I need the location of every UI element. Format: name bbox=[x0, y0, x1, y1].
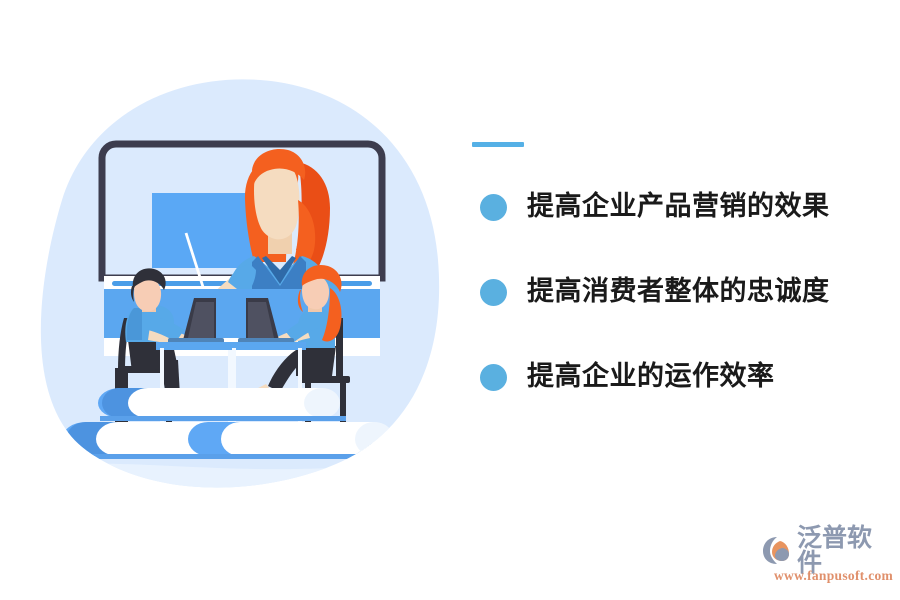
list-item: 提高企业产品营销的效果 bbox=[468, 178, 888, 236]
slide-root: 提高企业产品营销的效果 提高消费者整体的忠诚度 提高企业的运作效率 泛普软件 bbox=[0, 0, 900, 600]
list-item: 提高企业的运作效率 bbox=[468, 348, 888, 406]
bullet-dot-icon bbox=[480, 194, 507, 221]
brand-row: 泛普软件 bbox=[762, 533, 892, 567]
accent-bar bbox=[472, 142, 524, 147]
brand-watermark: 泛普软件 www.fanpusoft.com bbox=[762, 533, 892, 585]
bullet-dot-icon bbox=[480, 364, 507, 391]
brand-url: www.fanpusoft.com bbox=[774, 568, 893, 584]
online-classroom-illustration bbox=[0, 50, 460, 540]
bullet-label: 提高企业产品营销的效果 bbox=[527, 192, 830, 222]
list-item: 提高消费者整体的忠诚度 bbox=[468, 263, 888, 321]
bullet-label: 提高消费者整体的忠诚度 bbox=[527, 277, 830, 307]
fanpu-logo-icon bbox=[762, 535, 794, 565]
content-panel: 提高企业产品营销的效果 提高消费者整体的忠诚度 提高企业的运作效率 bbox=[468, 130, 888, 420]
benefits-list: 提高企业产品营销的效果 提高消费者整体的忠诚度 提高企业的运作效率 bbox=[468, 178, 888, 433]
bullet-label: 提高企业的运作效率 bbox=[527, 362, 775, 392]
bullet-dot-icon bbox=[480, 279, 507, 306]
